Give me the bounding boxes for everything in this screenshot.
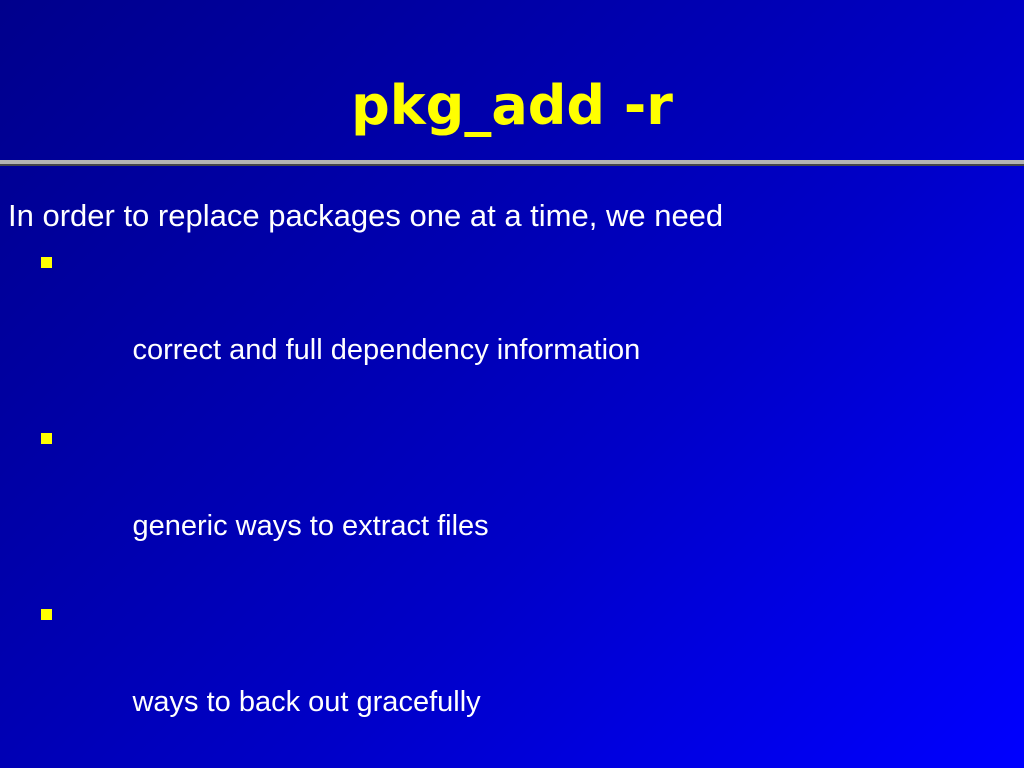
list-item-label: correct and full dependency information xyxy=(132,334,640,366)
list-item: correct and full dependency information xyxy=(0,240,1024,416)
list-item: ways to back out gracefully xyxy=(0,592,1024,768)
divider-shadow-line xyxy=(0,164,1024,166)
bullet-list: correct and full dependency information … xyxy=(0,240,1024,768)
page-title: pkg_add -r xyxy=(351,74,673,138)
square-bullet-icon xyxy=(41,433,52,444)
square-bullet-icon xyxy=(41,609,52,620)
square-bullet-icon xyxy=(41,257,52,268)
slide-title-area: pkg_add -r xyxy=(0,74,1024,138)
list-item-label: generic ways to extract files xyxy=(132,510,488,542)
body-lead-line: In order to replace packages one at a ti… xyxy=(0,196,1024,236)
presentation-slide: pkg_add -r In order to replace packages … xyxy=(0,0,1024,768)
slide-body: In order to replace packages one at a ti… xyxy=(0,196,1024,768)
title-divider-rule xyxy=(0,160,1024,166)
list-item: generic ways to extract files xyxy=(0,416,1024,592)
list-item-label: ways to back out gracefully xyxy=(132,686,480,718)
